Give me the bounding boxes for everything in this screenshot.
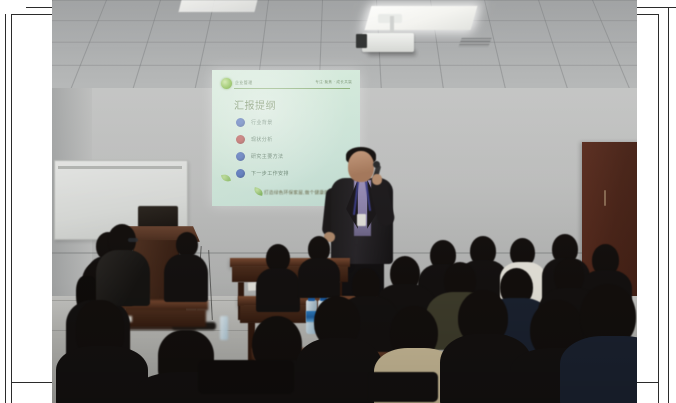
bullet-dot-icon xyxy=(236,152,245,161)
page-root: 企业管理 专注·聚焦 · 成长共赢 汇报提纲 行业背景 现状分析 研究主要方法 xyxy=(0,0,676,403)
slide-bullet-list: 行业背景 现状分析 研究主要方法 下一步工作安排 xyxy=(236,114,346,182)
water-bottle xyxy=(220,316,228,340)
page-border-inner-left xyxy=(11,14,12,403)
slide-bullet-item: 行业背景 xyxy=(236,114,346,131)
bullet-dot-icon xyxy=(236,135,245,144)
door-handle xyxy=(604,190,606,206)
slide-bullet-label: 行业背景 xyxy=(251,119,273,126)
conference-photograph: 企业管理 专注·聚焦 · 成长共赢 汇报提纲 行业背景 现状分析 研究主要方法 xyxy=(52,0,637,403)
page-border-inner-right xyxy=(658,14,659,403)
leaf-icon xyxy=(221,173,231,183)
eyeglasses-icon xyxy=(128,238,138,242)
slide-header-left: 企业管理 xyxy=(235,80,253,86)
page-border-outer-right xyxy=(668,7,669,403)
presenter-badge xyxy=(357,214,366,226)
slide-bullet-item: 现状分析 xyxy=(236,131,346,148)
company-logo-icon xyxy=(221,78,232,89)
presenter-right-hand xyxy=(372,174,382,185)
slide-bullet-item: 下一步工作安排 xyxy=(236,165,346,182)
ceiling-vent xyxy=(458,38,491,47)
slide-bullet-label: 现状分析 xyxy=(251,136,273,143)
bullet-dot-icon xyxy=(236,118,245,127)
slide-title: 汇报提纲 xyxy=(234,97,276,112)
slide-bullet-item: 研究主要方法 xyxy=(236,148,346,165)
chair-back xyxy=(198,360,294,394)
chair-back xyxy=(368,372,438,402)
whiteboard-tray xyxy=(58,166,182,169)
ceiling-light-panel-secondary xyxy=(179,0,258,12)
slide-header-rule xyxy=(234,88,350,89)
slide-header-right: 专注·聚焦 · 成长共赢 xyxy=(315,80,352,85)
page-border-outer-left xyxy=(5,14,6,403)
leaf-icon-secondary xyxy=(253,187,263,196)
projector-lens xyxy=(356,34,367,48)
slide-bullet-label: 研究主要方法 xyxy=(251,153,283,160)
projector-icon xyxy=(362,33,414,52)
microphone-head-icon xyxy=(373,161,380,168)
bullet-dot-icon xyxy=(236,169,245,178)
presenter-head xyxy=(348,151,374,182)
slide-bullet-label: 下一步工作安排 xyxy=(251,170,289,177)
